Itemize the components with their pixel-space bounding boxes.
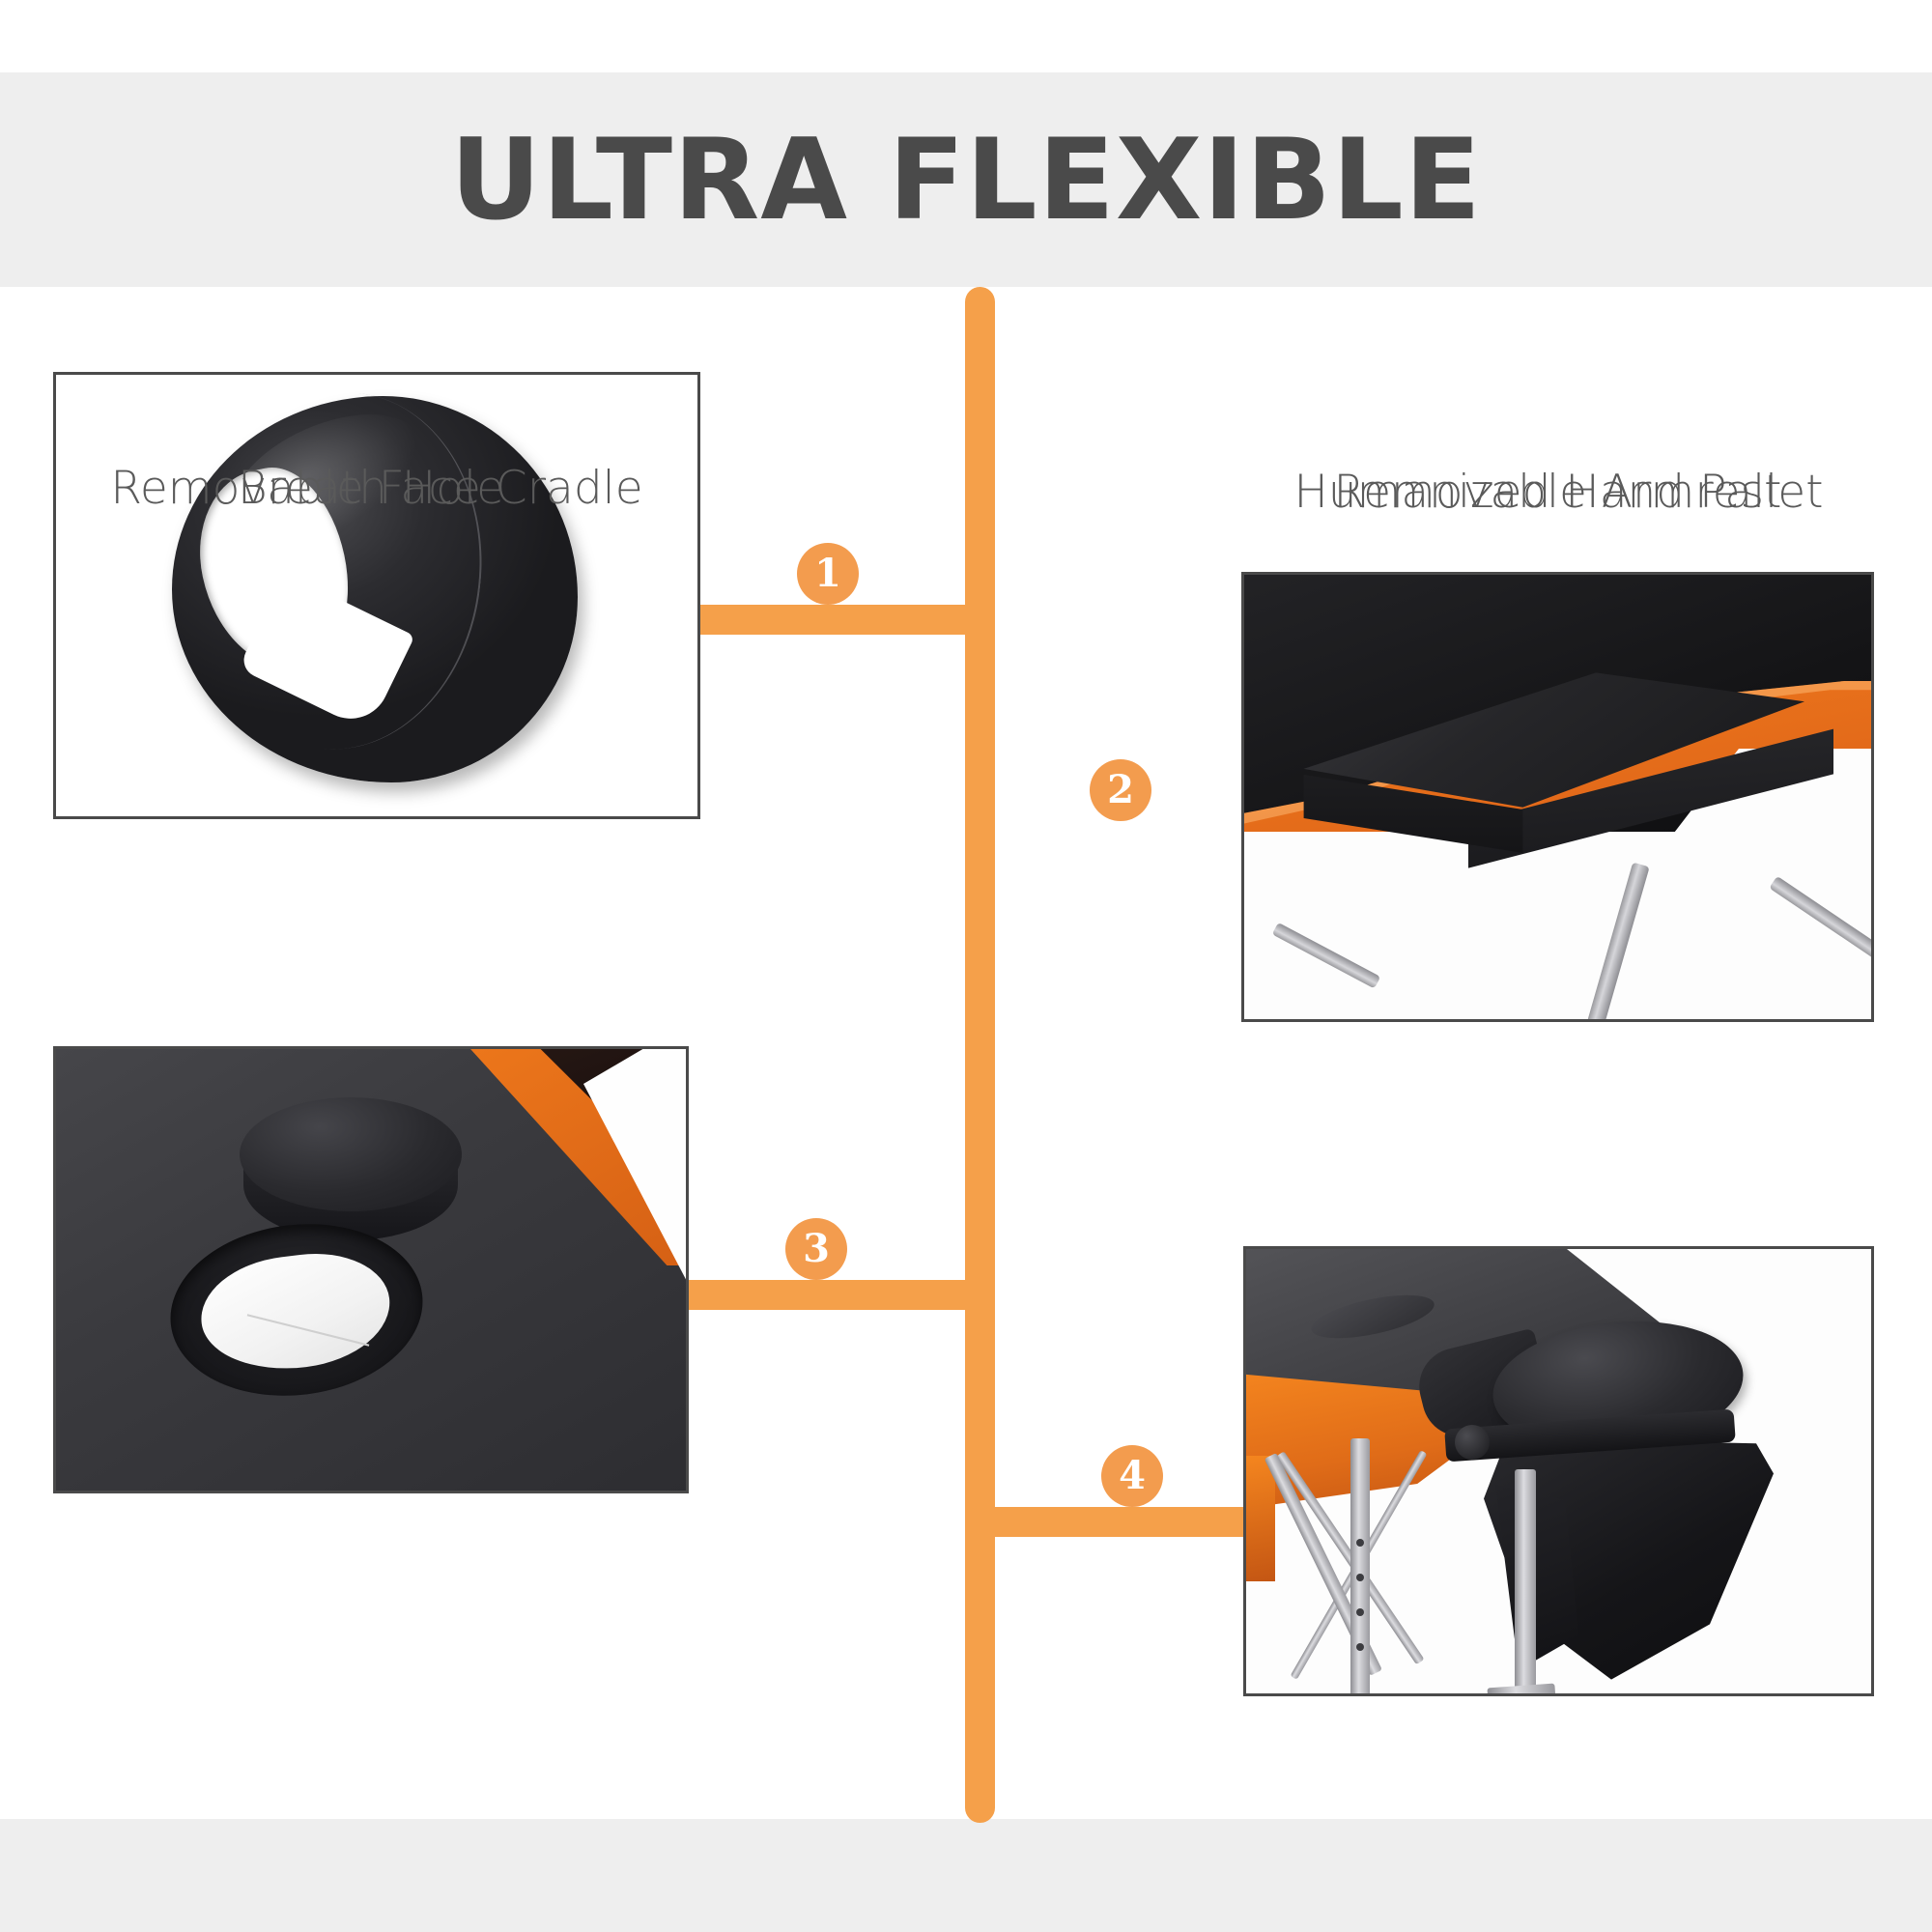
leg-adjust-hole	[1356, 1574, 1364, 1581]
connector-trunk-line	[965, 287, 995, 1823]
table-leg-front	[1350, 1438, 1370, 1696]
page-title: ULTRA FLEXIBLE	[0, 72, 1932, 287]
feature-photo-2	[1241, 572, 1874, 1022]
leg-adjust-hole	[1356, 1539, 1364, 1547]
feature-panel-1[interactable]	[53, 372, 700, 819]
feature-photo-4	[1243, 1246, 1874, 1696]
connector-branch-4	[980, 1507, 1258, 1537]
step-badge-4[interactable]: 4	[1101, 1445, 1163, 1507]
feature-caption-3: Breath Hole	[53, 462, 689, 515]
bolster-pillow	[240, 1097, 462, 1242]
feature-panel-4[interactable]	[1243, 1246, 1874, 1696]
feature-photo-1	[53, 372, 700, 819]
bolster-top	[240, 1097, 462, 1211]
feature-panel-3[interactable]	[53, 1046, 689, 1493]
footer-band	[0, 1819, 1932, 1932]
leg-adjust-hole	[1356, 1608, 1364, 1616]
feature-caption-4: Humanized Hand Pallet	[1243, 466, 1874, 519]
table-orange-trim-left	[1243, 1456, 1275, 1581]
armrest-cushion	[1283, 669, 1804, 830]
cradle-support-post	[1515, 1469, 1536, 1696]
connector-branch-3	[689, 1280, 980, 1310]
feature-panel-2[interactable]	[1241, 572, 1874, 1022]
feature-photo-3	[53, 1046, 689, 1493]
step-badge-2[interactable]: 2	[1090, 759, 1151, 821]
step-badge-1[interactable]: 1	[797, 543, 859, 605]
step-badge-3[interactable]: 3	[785, 1218, 847, 1280]
connector-branch-1	[700, 605, 980, 635]
cradle-adjust-knob	[1455, 1425, 1490, 1460]
leg-adjust-hole	[1356, 1643, 1364, 1651]
